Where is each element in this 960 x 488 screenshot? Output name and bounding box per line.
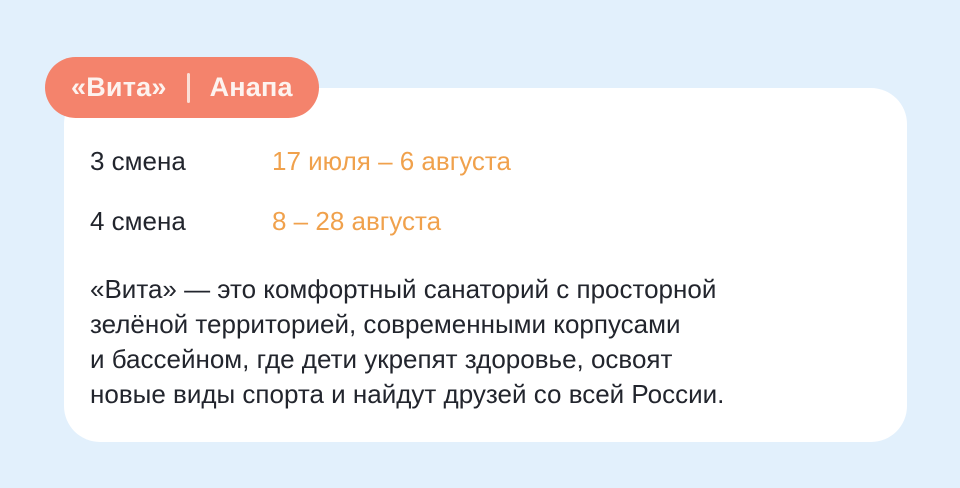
description-line: новые виды спорта и найдут друзей со все…: [90, 377, 890, 412]
shift-schedule-list: 3 смена 17 июля – 6 августа 4 смена 8 – …: [90, 148, 511, 268]
shift-dates: 8 – 28 августа: [272, 208, 441, 234]
description-line: «Вита» — это комфортный санаторий с прос…: [90, 272, 890, 307]
camp-description: «Вита» — это комфортный санаторий с прос…: [90, 272, 890, 412]
shift-row: 4 смена 8 – 28 августа: [90, 208, 511, 250]
camp-info-screen: «Вита» Анапа 3 смена 17 июля – 6 августа…: [0, 0, 960, 488]
camp-location-label: Анапа: [210, 74, 293, 101]
camp-title-badge: «Вита» Анапа: [45, 57, 319, 118]
shift-dates: 17 июля – 6 августа: [272, 148, 511, 174]
shift-row: 3 смена 17 июля – 6 августа: [90, 148, 511, 190]
shift-label: 3 смена: [90, 148, 272, 174]
shift-label: 4 смена: [90, 208, 272, 234]
description-line: и бассейном, где дети укрепят здоровье, …: [90, 342, 890, 377]
description-line: зелёной территорией, современными корпус…: [90, 307, 890, 342]
camp-name-label: «Вита»: [71, 74, 167, 101]
badge-divider: [187, 73, 190, 103]
